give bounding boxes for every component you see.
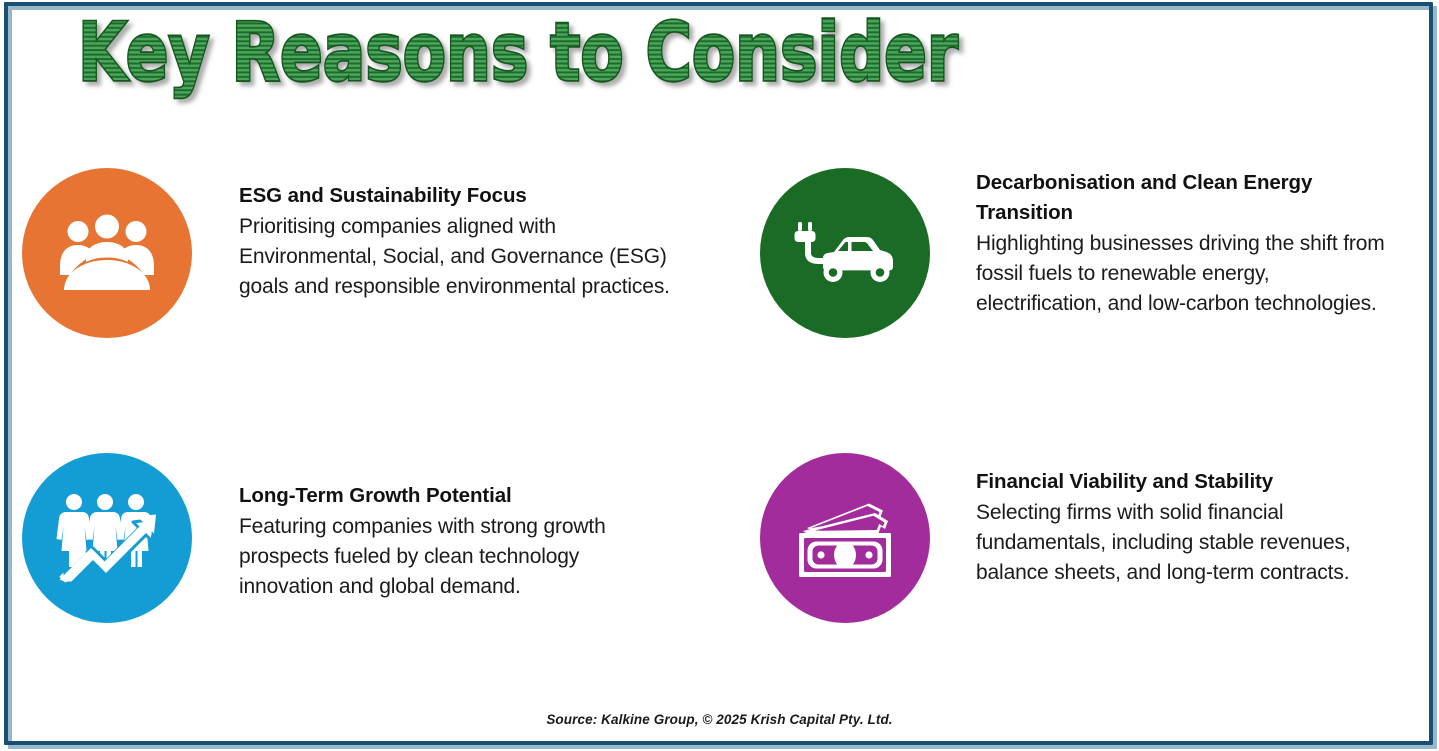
card-text-block: Decarbonisation and Clean Energy Transit… (930, 168, 1396, 319)
people-growth-arrow-icon (22, 453, 192, 623)
title-text: Key Reasons to Consider (78, 6, 958, 100)
infographic-slide: Key Reasons to Consider ESG and Sustaina… (0, 0, 1439, 751)
card-title: Long-Term Growth Potential (239, 481, 679, 511)
banknotes-cash-icon (760, 453, 930, 623)
people-group-icon (22, 168, 192, 338)
card-title: Decarbonisation and Clean Energy Transit… (976, 168, 1396, 228)
card-title: ESG and Sustainability Focus (239, 181, 679, 211)
card-long-term-growth-potential: Long-Term Growth Potential Featuring com… (22, 453, 682, 623)
card-title: Financial Viability and Stability (976, 467, 1376, 497)
page-title: Key Reasons to Consider (78, 6, 978, 92)
electric-car-charging-icon (760, 168, 930, 338)
card-body: Highlighting businesses driving the shif… (976, 229, 1396, 319)
card-body: Selecting firms with solid financial fun… (976, 498, 1376, 588)
card-decarbonisation-and-clean-energy-transition: Decarbonisation and Clean Energy Transit… (760, 168, 1425, 338)
card-esg-and-sustainability-focus: ESG and Sustainability Focus Prioritisin… (22, 168, 682, 338)
people-group-icon-glyph (57, 214, 157, 292)
electric-car-charging-icon-glyph (793, 222, 897, 284)
card-financial-viability-and-stability: Financial Viability and Stability Select… (760, 453, 1425, 623)
source-attribution: Source: Kalkine Group, © 2025 Krish Capi… (0, 712, 1439, 727)
card-body: Prioritising companies aligned with Envi… (239, 212, 679, 302)
slide-border (4, 2, 1433, 745)
card-text-block: Financial Viability and Stability Select… (930, 467, 1376, 588)
card-body: Featuring companies with strong growth p… (239, 512, 679, 602)
card-text-block: Long-Term Growth Potential Featuring com… (192, 481, 679, 602)
banknotes-cash-icon-glyph (793, 497, 897, 579)
card-text-block: ESG and Sustainability Focus Prioritisin… (192, 181, 679, 302)
people-growth-arrow-icon-glyph (55, 493, 159, 583)
title-artwork: Key Reasons to Consider (78, 6, 978, 92)
